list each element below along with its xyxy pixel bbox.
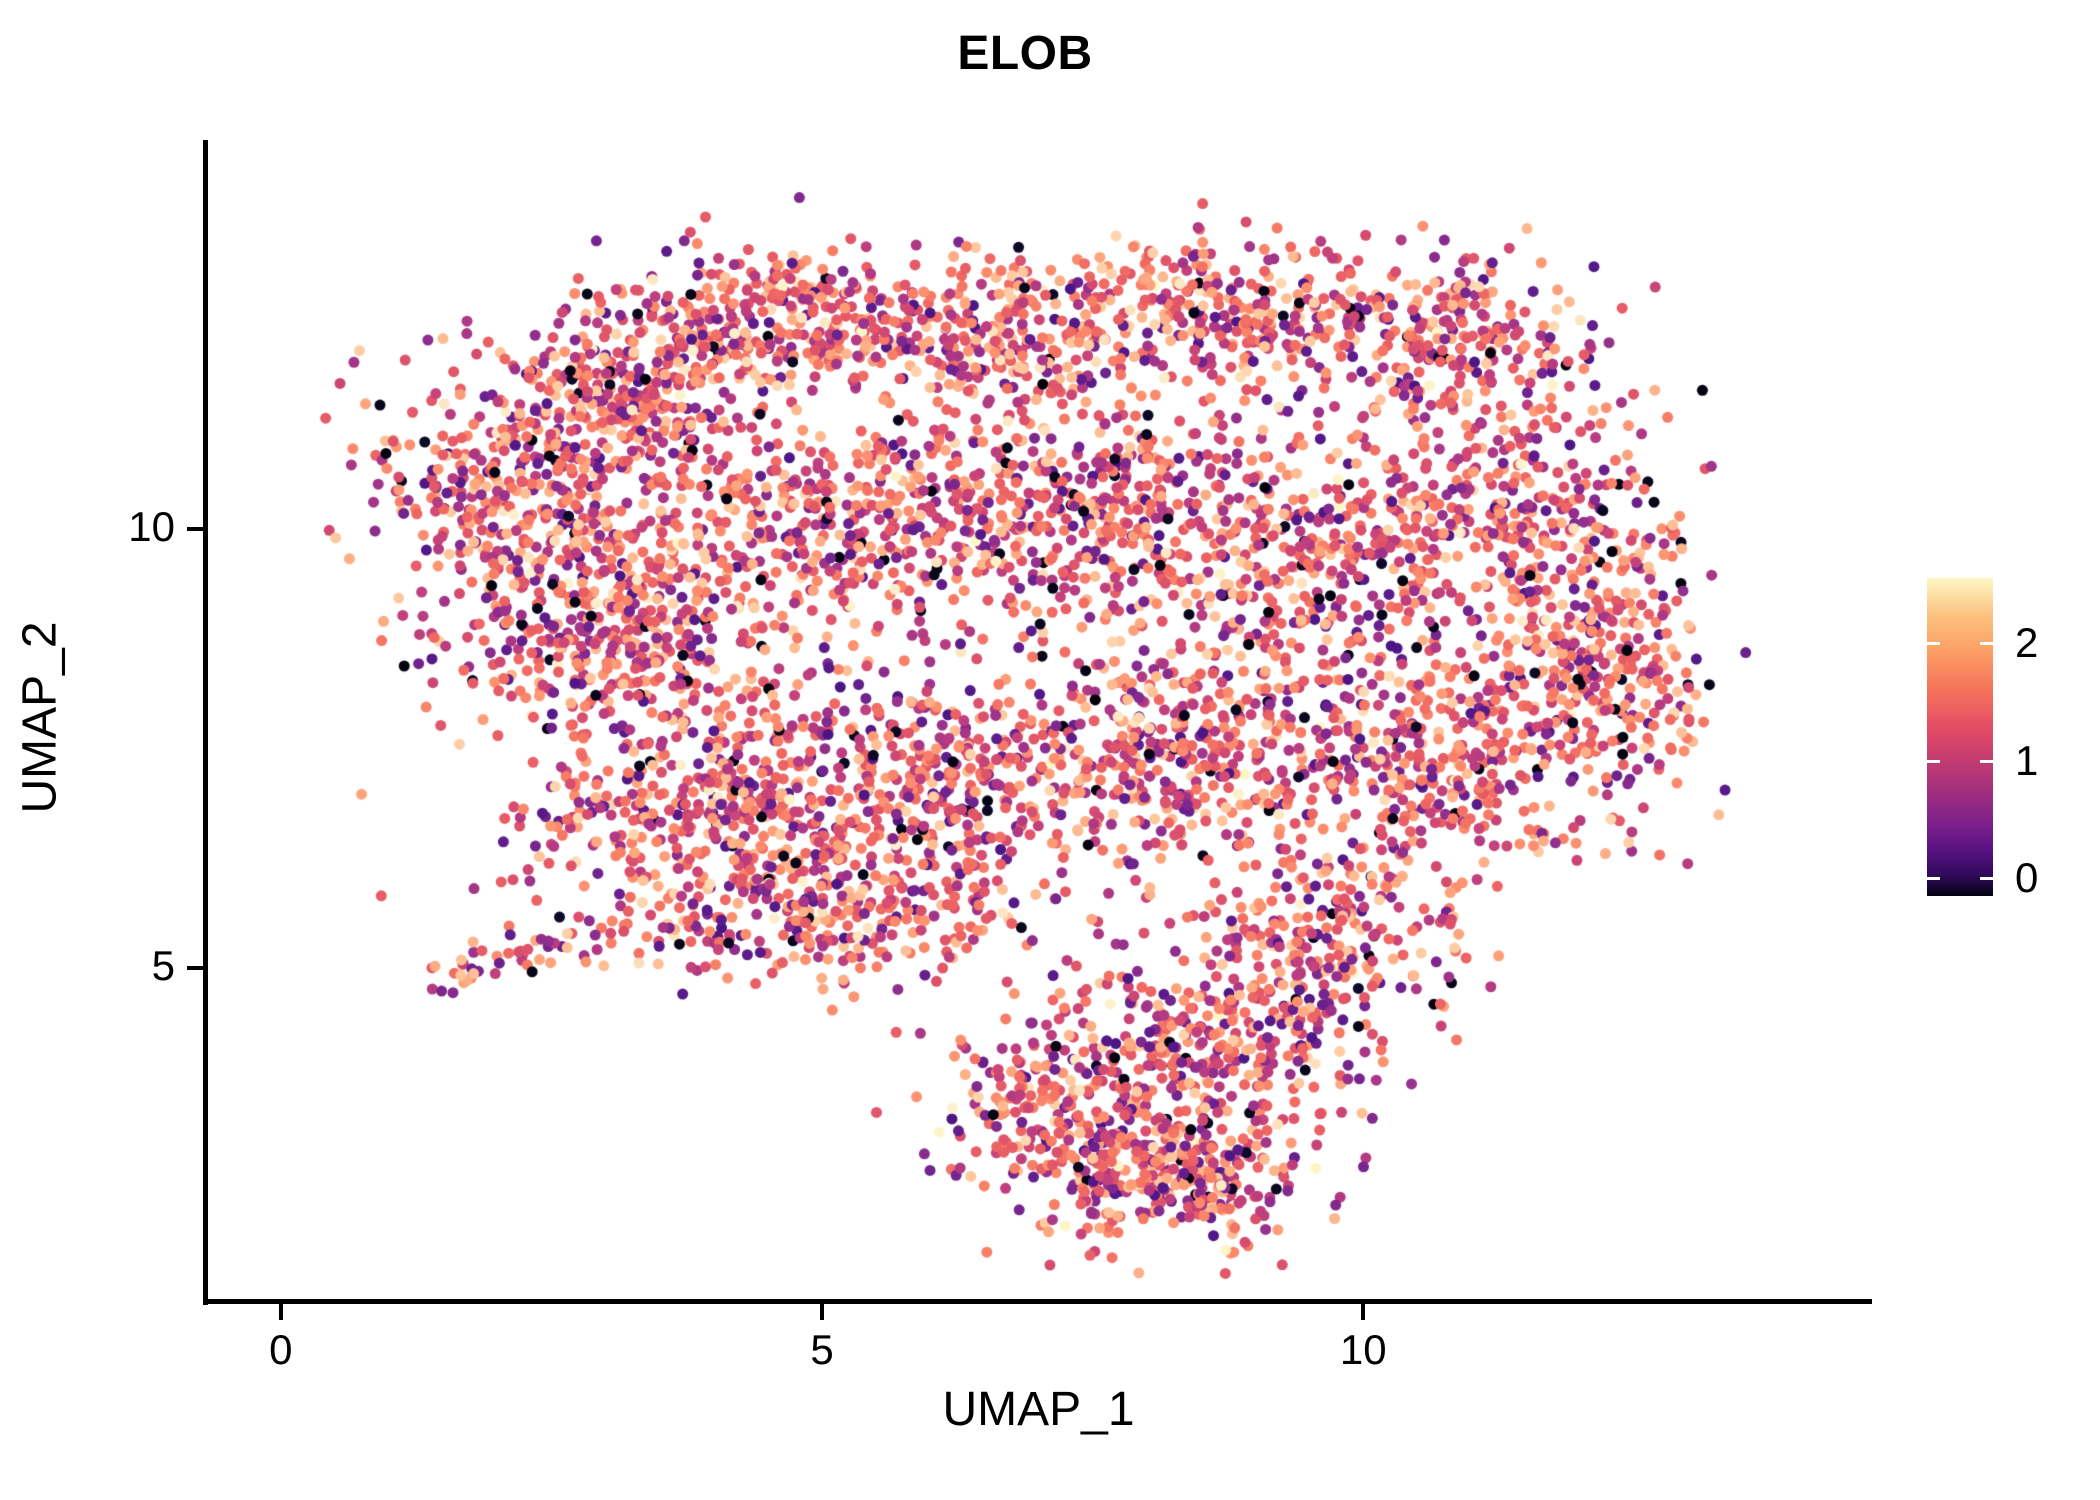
figure-root: ELOB 0510 510 UMAP_1 UMAP_2 012 — [0, 0, 2100, 1500]
y-tick-mark — [187, 966, 203, 970]
colorbar-tick-label: 1 — [2015, 737, 2038, 785]
x-tick-mark — [1361, 1304, 1365, 1320]
colorbar-tick-mark — [1927, 877, 1940, 880]
x-tick-mark — [820, 1304, 824, 1320]
color-legend — [1927, 578, 1993, 896]
colorbar-tick-mark — [1980, 760, 1993, 763]
colorbar-tick-mark — [1980, 642, 1993, 645]
scatter-plot-canvas — [205, 142, 1872, 1302]
y-tick-mark — [187, 527, 203, 531]
x-tick-label: 0 — [221, 1326, 341, 1374]
x-tick-label: 10 — [1303, 1326, 1423, 1374]
colorbar-tick-mark — [1927, 760, 1940, 763]
x-axis-line — [203, 1299, 1872, 1304]
colorbar-tick-label: 2 — [2015, 619, 2038, 667]
page-title: ELOB — [0, 26, 2050, 81]
colorbar-tick-mark — [1980, 877, 1993, 880]
y-axis-title: UMAP_2 — [13, 138, 68, 1298]
plot-panel — [205, 142, 1872, 1302]
colorbar-tick-mark — [1927, 642, 1940, 645]
colorbar-tick-label: 0 — [2015, 854, 2038, 902]
x-tick-mark — [279, 1304, 283, 1320]
x-axis-title: UMAP_1 — [205, 1382, 1872, 1437]
colorbar-gradient — [1927, 578, 1993, 896]
x-tick-label: 5 — [762, 1326, 882, 1374]
y-axis-line — [203, 140, 208, 1305]
